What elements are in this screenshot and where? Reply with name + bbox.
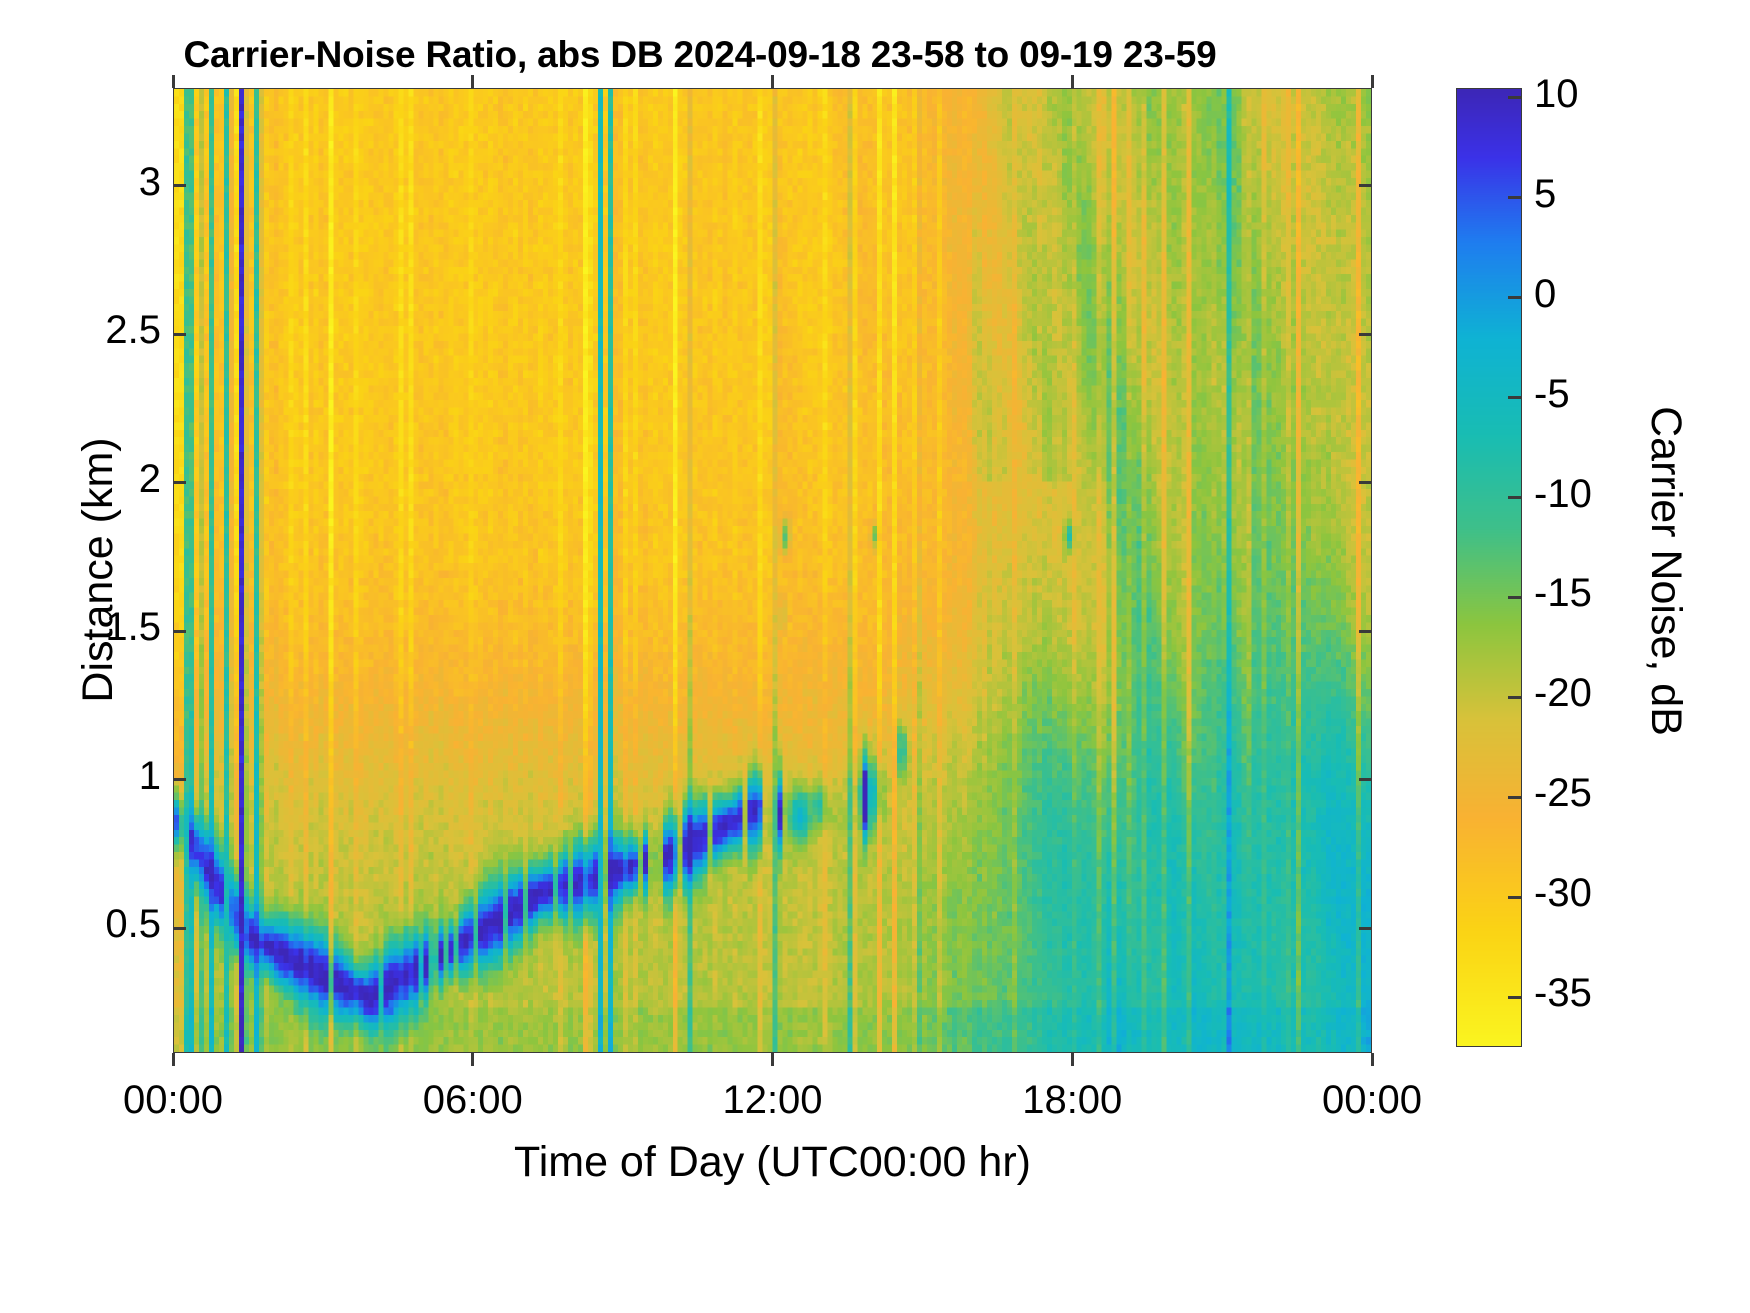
x-tick-mark-top: [172, 75, 175, 88]
y-axis-label: Distance (km): [74, 70, 123, 1070]
y-tick-label: 2: [139, 457, 161, 502]
x-tick-mark-top: [1071, 75, 1074, 88]
x-tick-mark: [771, 1053, 774, 1066]
x-tick-label: 12:00: [722, 1078, 822, 1123]
figure-canvas: Carrier-Noise Ratio, abs DB 2024-09-18 2…: [0, 0, 1750, 1313]
y-tick-label: 3: [139, 160, 161, 205]
x-tick-mark: [1371, 1053, 1374, 1066]
y-tick-label: 1: [139, 754, 161, 799]
heatmap-image: [174, 89, 1371, 1052]
x-tick-mark-top: [471, 75, 474, 88]
colorbar-gradient: [1457, 89, 1521, 1046]
x-tick-label: 00:00: [1322, 1078, 1422, 1123]
x-axis-label: Time of Day (UTC00:00 hr): [173, 1138, 1372, 1187]
colorbar-tick-mark: [1508, 696, 1521, 699]
x-tick-mark: [471, 1053, 474, 1066]
colorbar-tick-label: -10: [1534, 472, 1592, 517]
colorbar-label: Carrier Noise, dB: [1641, 71, 1690, 1071]
colorbar-tick-mark: [1508, 496, 1521, 499]
x-tick-label: 00:00: [123, 1078, 223, 1123]
colorbar-tick-label: -5: [1534, 372, 1570, 417]
y-tick-mark: [173, 333, 186, 336]
colorbar-tick-label: -15: [1534, 571, 1592, 616]
y-tick-mark: [173, 184, 186, 187]
colorbar-tick-mark: [1508, 96, 1521, 99]
colorbar-tick-label: -35: [1534, 971, 1592, 1016]
x-tick-label: 18:00: [1022, 1078, 1122, 1123]
y-tick-mark-right: [1359, 481, 1372, 484]
y-tick-mark-right: [1359, 778, 1372, 781]
y-tick-mark: [173, 778, 186, 781]
colorbar-tick-label: 10: [1534, 72, 1579, 117]
colorbar-tick-mark: [1508, 796, 1521, 799]
colorbar-tick-label: 0: [1534, 272, 1556, 317]
colorbar: [1456, 88, 1522, 1047]
colorbar-tick-mark: [1508, 596, 1521, 599]
y-tick-mark-right: [1359, 333, 1372, 336]
colorbar-tick-label: -25: [1534, 771, 1592, 816]
chart-title: Carrier-Noise Ratio, abs DB 2024-09-18 2…: [0, 34, 1400, 76]
y-tick-mark-right: [1359, 184, 1372, 187]
colorbar-tick-mark: [1508, 996, 1521, 999]
y-tick-mark: [173, 630, 186, 633]
y-tick-mark: [173, 927, 186, 930]
colorbar-tick-label: 5: [1534, 172, 1556, 217]
colorbar-tick-label: -30: [1534, 871, 1592, 916]
colorbar-tick-mark: [1508, 296, 1521, 299]
y-tick-mark-right: [1359, 927, 1372, 930]
colorbar-tick-mark: [1508, 896, 1521, 899]
heatmap-plot-area: [173, 88, 1372, 1053]
colorbar-tick-mark: [1508, 196, 1521, 199]
x-tick-mark: [172, 1053, 175, 1066]
x-tick-mark-top: [1371, 75, 1374, 88]
colorbar-tick-label: -20: [1534, 671, 1592, 716]
x-tick-mark: [1071, 1053, 1074, 1066]
x-tick-label: 06:00: [423, 1078, 523, 1123]
colorbar-tick-mark: [1508, 396, 1521, 399]
y-tick-mark: [173, 481, 186, 484]
y-tick-mark-right: [1359, 630, 1372, 633]
x-tick-mark-top: [771, 75, 774, 88]
